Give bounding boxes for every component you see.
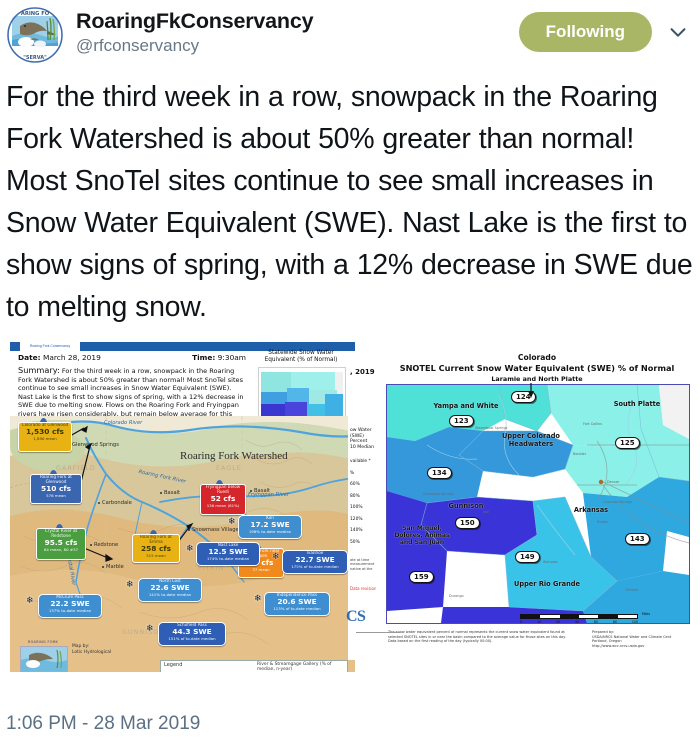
snowflake-icon: ❄ <box>26 596 34 605</box>
legend-title: Legend <box>164 662 182 668</box>
user-identity: RoaringFkConservancy @rfconservancy <box>76 6 519 57</box>
swe-callout[interactable]: Schofield Pass 44.3 SWE 151% of to-date … <box>158 622 226 646</box>
flow-callout[interactable]: Roaring Fork at Emma 258 cfs 315 mean <box>132 534 180 563</box>
basin-value-arkansas: 143 <box>625 533 650 545</box>
conservancy-logo-small <box>20 646 68 672</box>
swe-callout[interactable]: Nast Lake 12.5 SWE 174% to-date median <box>196 542 260 566</box>
report-time: Time: 9:30am <box>192 353 246 362</box>
roaring-fork-watershed-map: GARFIELD EAGLE PITKIN GUNNISON Colorado … <box>10 416 355 672</box>
flow-callout[interactable]: Fryingpan below Ruedi 52 cfs 136 mean (6… <box>200 484 246 515</box>
swe-callout[interactable]: Ivanhoe 22.7 SWE 175% of to-date median <box>282 550 348 574</box>
map-footer-credit: Prepared by: USDA/NRCS National Water an… <box>592 630 696 648</box>
snowflake-icon: ❄ <box>126 580 134 589</box>
inset-title-line2: Equivalent (% of Normal) <box>258 357 344 364</box>
report-date: Date: March 28, 2019 <box>18 353 101 362</box>
map-scale-bar: 0 10 20 40 60 80 100 Miles <box>520 614 638 624</box>
tweet-text: For the third week in a row, snowpack in… <box>0 62 700 334</box>
svg-text:"SERVA": "SERVA" <box>23 55 47 61</box>
svg-text:ARING FO: ARING FO <box>21 11 50 17</box>
svg-text:Alamosa: Alamosa <box>543 560 558 564</box>
swe-callout[interactable]: Kiln 17.2 SWE 198% to-date median <box>238 515 302 539</box>
snowflake-icon: ❄ <box>272 552 280 561</box>
logo-caption: ROARING FORK <box>20 640 66 644</box>
svg-text:Durango: Durango <box>449 594 464 598</box>
basin-value-upper-colorado-headwaters: 134 <box>427 467 452 479</box>
colorado-map-subtitle: SNOTEL Current Snow Water Equivalent (SW… <box>376 363 696 373</box>
basin-label-upper-colorado-headwaters: Upper Colorado Headwaters <box>483 433 579 448</box>
basin-label-south-platte: South Platte <box>587 401 687 409</box>
svg-text:Denver: Denver <box>607 480 620 484</box>
basin-value-upper-rio-grande: 149 <box>515 551 540 563</box>
swe-callout[interactable]: McClure Pass 22.2 SWE 137% to-date media… <box>38 594 102 618</box>
colorado-snotel-map: Colorado SNOTEL Current Snow Water Equiv… <box>376 342 696 672</box>
map-legend-box: Legend River & Streamgage Gallery (% of … <box>160 660 348 672</box>
chevron-down-icon[interactable] <box>666 20 690 44</box>
colorado-map-frame: Fort Collins Boulder Denver Steamboat Sp… <box>386 384 690 624</box>
nrcs-rule <box>356 632 400 633</box>
swe-callout[interactable]: North Lost 22.6 SWE 141% to-date median <box>138 578 202 602</box>
svg-text:Vail: Vail <box>483 510 489 514</box>
display-name[interactable]: RoaringFkConservancy <box>76 8 519 34</box>
legend-heading: ow Water (SWE) Percent 10 Median <box>350 428 374 450</box>
snowflake-icon: ❄ <box>186 544 194 553</box>
nrcs-logo-text: CS <box>346 608 365 626</box>
inset-title-line1: Statewide Snow Water <box>258 350 344 357</box>
svg-text:Steamboat Springs: Steamboat Springs <box>475 426 508 430</box>
legend-classes: vailable * % 60% 80% 100% 120% 140% 50% <box>350 456 371 548</box>
colorado-map-title: Colorado <box>376 353 696 362</box>
flow-callout[interactable]: Colorado at Glenwood 1,530 cfs 1,890 mea… <box>18 422 72 452</box>
basin-label-arkansas: Arkansas <box>551 507 631 515</box>
snowflake-icon: ❄ <box>146 624 154 633</box>
tweet-timestamp[interactable]: 1:06 PM - 28 Mar 2019 <box>6 712 200 736</box>
legend-subtitle: River & Streamgage Gallery (% of median,… <box>257 662 347 672</box>
basin-value-san-miguel-dolores-animas-san-juan: 159 <box>409 571 434 583</box>
following-button[interactable]: Following <box>519 12 652 52</box>
header-actions: Following <box>519 6 690 52</box>
map-credit: Map by: Lotic Hydrological <box>72 644 111 655</box>
snowflake-icon: ❄ <box>228 517 236 526</box>
basin-value-gunnison: 150 <box>455 517 480 529</box>
svg-text:Trinidad: Trinidad <box>624 588 638 592</box>
svg-text:Pueblo: Pueblo <box>597 520 608 524</box>
basin-value-south-platte: 125 <box>615 437 640 449</box>
tweet-header: ARING FO "SERVA" RoaringFkConservancy @r… <box>0 0 700 62</box>
svg-text:Glenwood Springs: Glenwood Springs <box>423 492 454 496</box>
snowflake-icon: ❄ <box>254 594 262 603</box>
tweet-media-image[interactable]: Roaring Fork Conservancy Date: March 28,… <box>4 340 696 678</box>
basin-value-laramie-north-platte: 124 <box>511 391 536 403</box>
legend-revision-note: Data revision <box>350 586 377 591</box>
avatar[interactable]: ARING FO "SERVA" <box>6 6 64 64</box>
flow-callout[interactable]: Crystal River at Redstone 95.5 cfs 84 me… <box>36 528 86 560</box>
basin-label-upper-rio-grande: Upper Rio Grande <box>497 581 597 589</box>
user-handle[interactable]: @rfconservancy <box>76 35 519 57</box>
roaring-fork-conservancy-logo-icon: ARING FO "SERVA" <box>6 6 64 64</box>
report-summary-label: Summary: <box>18 365 60 375</box>
snowpack-report-panel: Roaring Fork Conservancy Date: March 28,… <box>10 342 355 672</box>
heron-logo-icon <box>21 647 67 671</box>
svg-text:Boulder: Boulder <box>573 452 587 456</box>
svg-text:Fort Collins: Fort Collins <box>583 422 602 426</box>
basin-label-laramie-north-platte: Laramie and North Platte <box>376 375 696 383</box>
basin-label-yampa-white: Yampa and White <box>411 403 521 411</box>
report-datebar: Date: March 28, 2019 Time: 9:30am <box>18 353 246 362</box>
map-footer-description: The snow water equivalent percent of nor… <box>388 630 568 644</box>
basin-label-san-miguel-dolores-animas-san-juan: San Miguel, Dolores, Animas and San Juan <box>391 525 453 546</box>
report-org-label: Roaring Fork Conservancy <box>20 342 80 351</box>
legend-year: , 2019 <box>350 368 375 376</box>
scale-unit: Miles <box>642 612 650 616</box>
basin-label-gunnison: Gunnison <box>431 503 501 511</box>
swe-callout[interactable]: Independence Pass 20.6 SWE 113% of to-da… <box>264 592 330 616</box>
basin-value-yampa-white: 123 <box>449 415 474 427</box>
flow-callout[interactable]: Roaring Fork at Glenwood 510 cfs 576 mea… <box>30 474 82 504</box>
svg-text:Colorado Springs: Colorado Springs <box>603 500 632 504</box>
